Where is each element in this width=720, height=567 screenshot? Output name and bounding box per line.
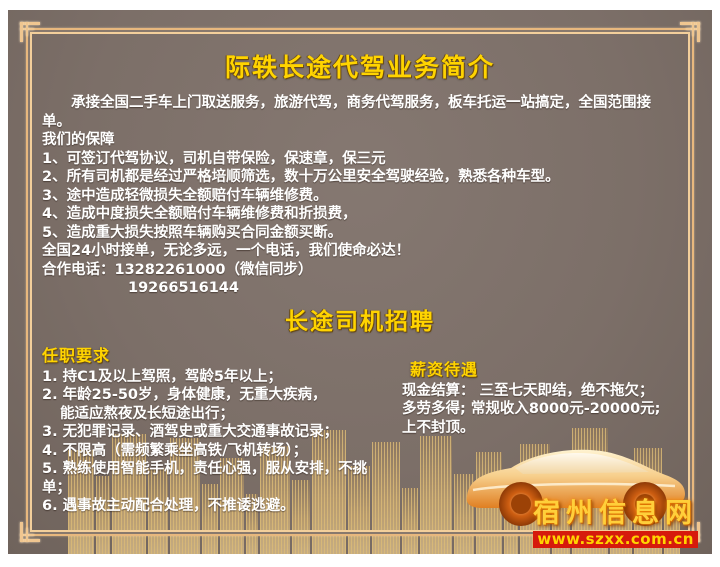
contact-phone-primary[interactable]: 合作电话：13282261000（微信同步） — [42, 261, 678, 280]
requirements-heading: 任职要求 — [42, 342, 392, 366]
contact-phone-secondary[interactable]: 19266516144 — [42, 279, 678, 298]
guarantee-item: 2、所有司机都是经过严格培顺筛选，数十万公里安全驾驶经验，熟悉各种车型。 — [42, 168, 678, 187]
salary-item: 多劳多得; 常规收入8000元-20000元; — [402, 400, 678, 419]
intro-block: 承接全国二手车上门取送服务，旅游代驾，商务代驾服务，板车托运一站搞定，全国范围接… — [42, 94, 678, 298]
poster-content: 际轶长途代驾业务简介 承接全国二手车上门取送服务，旅游代驾，商务代驾服务，板车托… — [8, 10, 712, 554]
two-column-section: 任职要求 1. 持C1及以上驾照，驾龄5年以上； 2. 年龄25-50岁，身体健… — [42, 342, 678, 516]
guarantee-item: 4、造成中度损失全额赔付车辆维修费和折损费， — [42, 205, 678, 224]
requirement-item: 1. 持C1及以上驾照，驾龄5年以上； — [42, 368, 392, 387]
guarantee-item: 5、造成重大损失按照车辆购买合同金额买断。 — [42, 224, 678, 243]
requirements-column: 任职要求 1. 持C1及以上驾照，驾龄5年以上； 2. 年龄25-50岁，身体健… — [42, 342, 392, 516]
salary-item: 上不封顶。 — [402, 419, 678, 438]
intro-paragraph: 承接全国二手车上门取送服务，旅游代驾，商务代驾服务，板车托运一站搞定，全国范围接… — [42, 94, 678, 131]
poster-canvas: 际轶长途代驾业务简介 承接全国二手车上门取送服务，旅游代驾，商务代驾服务，板车托… — [8, 10, 712, 554]
requirement-item: 5. 熟练使用智能手机，责任心强，服从安排，不挑单； — [42, 460, 392, 497]
poster-title: 际轶长途代驾业务简介 — [42, 48, 678, 84]
requirement-item: 3. 无犯罪记录、酒驾史或重大交通事故记录； — [42, 423, 392, 442]
requirement-item-continuation: 能适应熬夜及长短途出行； — [42, 405, 392, 424]
salary-column: 薪资待遇 现金结算： 三至七天即结，绝不拖欠； 多劳多得; 常规收入8000元-… — [392, 342, 678, 516]
salary-heading: 薪资待遇 — [410, 356, 678, 380]
salary-list: 现金结算： 三至七天即结，绝不拖欠； 多劳多得; 常规收入8000元-20000… — [402, 382, 678, 438]
poster-image: 际轶长途代驾业务简介 承接全国二手车上门取送服务，旅游代驾，商务代驾服务，板车托… — [0, 0, 720, 567]
requirements-list: 1. 持C1及以上驾照，驾龄5年以上； 2. 年龄25-50岁，身体健康，无重大… — [42, 368, 392, 516]
recruitment-title: 长途司机招聘 — [42, 302, 678, 336]
requirement-item: 6. 遇事故主动配合处理，不推诿逃避。 — [42, 497, 392, 516]
guarantee-item: 3、途中造成轻微损失全额赔付车辆维修费。 — [42, 187, 678, 206]
salary-item: 现金结算： 三至七天即结，绝不拖欠； — [402, 382, 678, 401]
guarantee-item: 1、可签订代驾协议，司机自带保险，保速章，保三元 — [42, 150, 678, 169]
requirement-item: 2. 年龄25-50岁，身体健康，无重大疾病， — [42, 386, 392, 405]
service-line: 全国24小时接单，无论多远，一个电话，我们使命必达！ — [42, 242, 678, 261]
requirement-item: 4. 不限高（需频繁乘坐高铁/飞机转场）； — [42, 442, 392, 461]
guarantee-heading: 我们的保障 — [42, 131, 678, 150]
